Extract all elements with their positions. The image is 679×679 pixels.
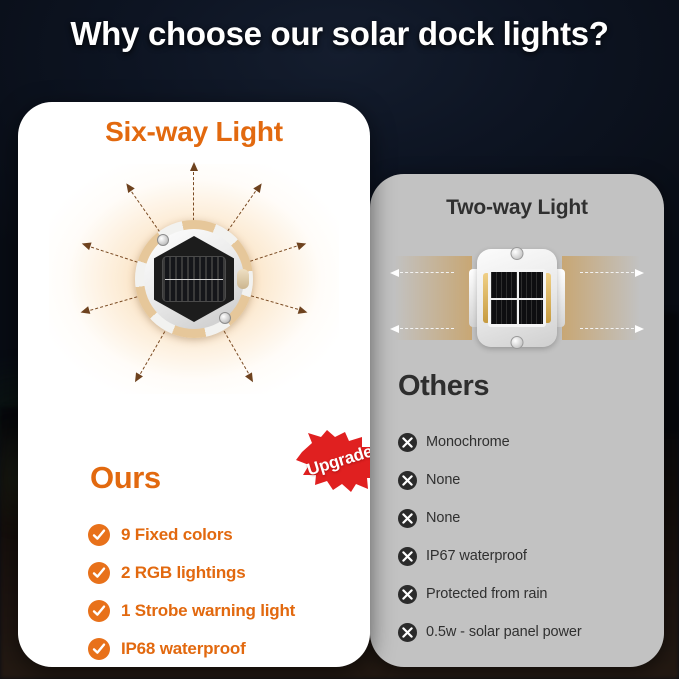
list-item: None bbox=[398, 500, 650, 536]
others-heading: Others bbox=[398, 370, 489, 403]
others-feature-label: Monochrome bbox=[426, 434, 510, 450]
ours-panel: Six-way Light bbox=[18, 102, 370, 667]
two-way-light-illustration bbox=[386, 232, 648, 364]
six-way-light-illustration bbox=[44, 154, 344, 404]
cross-icon bbox=[398, 509, 417, 528]
ours-feature-label: 9 Fixed colors bbox=[121, 525, 233, 545]
list-item: IP67 waterproof bbox=[398, 538, 650, 574]
list-item: 2 RGB lightings bbox=[88, 556, 370, 590]
screw-top-left bbox=[157, 234, 169, 246]
others-feature-label: IP67 waterproof bbox=[426, 548, 527, 564]
cross-icon bbox=[398, 433, 417, 452]
ours-feature-label: 1 Strobe warning light bbox=[121, 601, 295, 621]
list-item: 0.5w - solar panel power bbox=[398, 614, 650, 650]
others-panel: Two-way Light Others bbox=[370, 174, 664, 667]
list-item: None bbox=[398, 462, 650, 498]
led-side-lens bbox=[237, 269, 249, 289]
ours-heading: Ours bbox=[90, 460, 161, 496]
check-icon bbox=[88, 638, 110, 660]
beam-arrow-right-upper bbox=[570, 272, 644, 274]
screw-bottom bbox=[511, 336, 524, 349]
check-icon bbox=[88, 562, 110, 584]
cross-icon bbox=[398, 471, 417, 490]
infographic-canvas: Why choose our solar dock lights? Six-wa… bbox=[0, 0, 679, 679]
others-feature-label: None bbox=[426, 472, 460, 488]
others-feature-label: None bbox=[426, 510, 460, 526]
screw-top bbox=[511, 247, 524, 260]
ours-feature-list: 9 Fixed colors 2 RGB lightings 1 Strobe … bbox=[88, 518, 370, 667]
screw-bottom-right bbox=[219, 312, 231, 324]
beam-arrow-left-lower bbox=[390, 328, 464, 330]
page-title: Why choose our solar dock lights? bbox=[0, 14, 679, 54]
list-item: Protected from rain bbox=[398, 576, 650, 612]
six-way-light-label: Six-way Light bbox=[18, 116, 370, 148]
others-feature-label: 0.5w - solar panel power bbox=[426, 624, 582, 640]
solar-panel-cell bbox=[488, 269, 546, 327]
check-icon bbox=[88, 600, 110, 622]
list-item: Monochrome bbox=[398, 424, 650, 460]
cross-icon bbox=[398, 623, 417, 642]
two-way-light-label: Two-way Light bbox=[370, 196, 664, 220]
ours-feature-label: 2 RGB lightings bbox=[121, 563, 246, 583]
cross-icon bbox=[398, 547, 417, 566]
solar-dock-light-product-others bbox=[469, 243, 565, 353]
solar-dock-light-product-ours bbox=[135, 220, 253, 338]
others-feature-label: Protected from rain bbox=[426, 586, 547, 602]
cross-icon bbox=[398, 585, 417, 604]
list-item: 9 Fixed colors bbox=[88, 518, 370, 552]
others-feature-list: Monochrome None None IP67 waterproof bbox=[398, 424, 650, 652]
upgrade-badge: Upgrade bbox=[296, 430, 370, 492]
beam-arrow-right-lower bbox=[570, 328, 644, 330]
list-item: IP68 waterproof bbox=[88, 632, 370, 666]
ours-feature-label: IP68 waterproof bbox=[121, 639, 246, 659]
beam-arrow-left-upper bbox=[390, 272, 464, 274]
check-icon bbox=[88, 524, 110, 546]
list-item: 1 Strobe warning light bbox=[88, 594, 370, 628]
solar-panel-cell bbox=[162, 256, 226, 302]
